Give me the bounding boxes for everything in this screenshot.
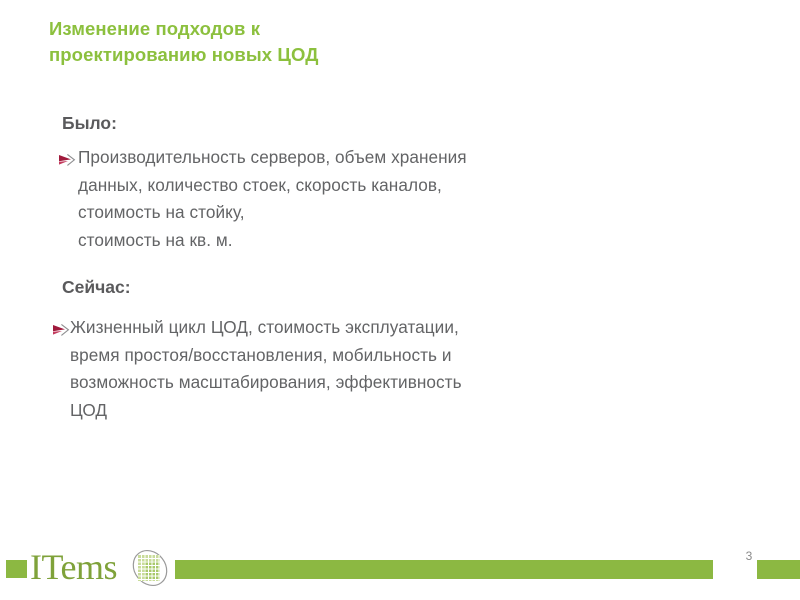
bullet-item-was: Производительность серверов, объем хране… xyxy=(0,144,760,254)
page-title-line-2: проектированию новых ЦОД xyxy=(49,42,649,68)
footer-accent-bar xyxy=(175,560,713,579)
grid-globe-icon xyxy=(128,546,172,590)
footer-accent-bar-right xyxy=(757,560,800,579)
arrow-bullet-icon xyxy=(52,323,70,337)
section-heading-now: Сейчас: xyxy=(0,272,760,302)
bullet-text-now: Жизненный цикл ЦОД, стоимость эксплуатац… xyxy=(70,314,740,424)
bullet-item-now: Жизненный цикл ЦОД, стоимость эксплуатац… xyxy=(0,314,760,424)
section-heading-was: Было: xyxy=(0,108,760,138)
arrow-bullet-icon xyxy=(58,153,76,167)
page-title-line-1: Изменение подходов к xyxy=(49,16,649,42)
footer-accent-square-left xyxy=(6,560,27,578)
page-number: 3 xyxy=(741,549,757,563)
bullet-text-was: Производительность серверов, объем хране… xyxy=(78,144,740,254)
slide-footer: ITems xyxy=(0,540,800,600)
logo-wordmark: ITems xyxy=(30,546,117,588)
page-title: Изменение подходов к проектированию новы… xyxy=(49,16,649,68)
slide-body: Было: Производительность серверов, объем… xyxy=(0,108,760,424)
